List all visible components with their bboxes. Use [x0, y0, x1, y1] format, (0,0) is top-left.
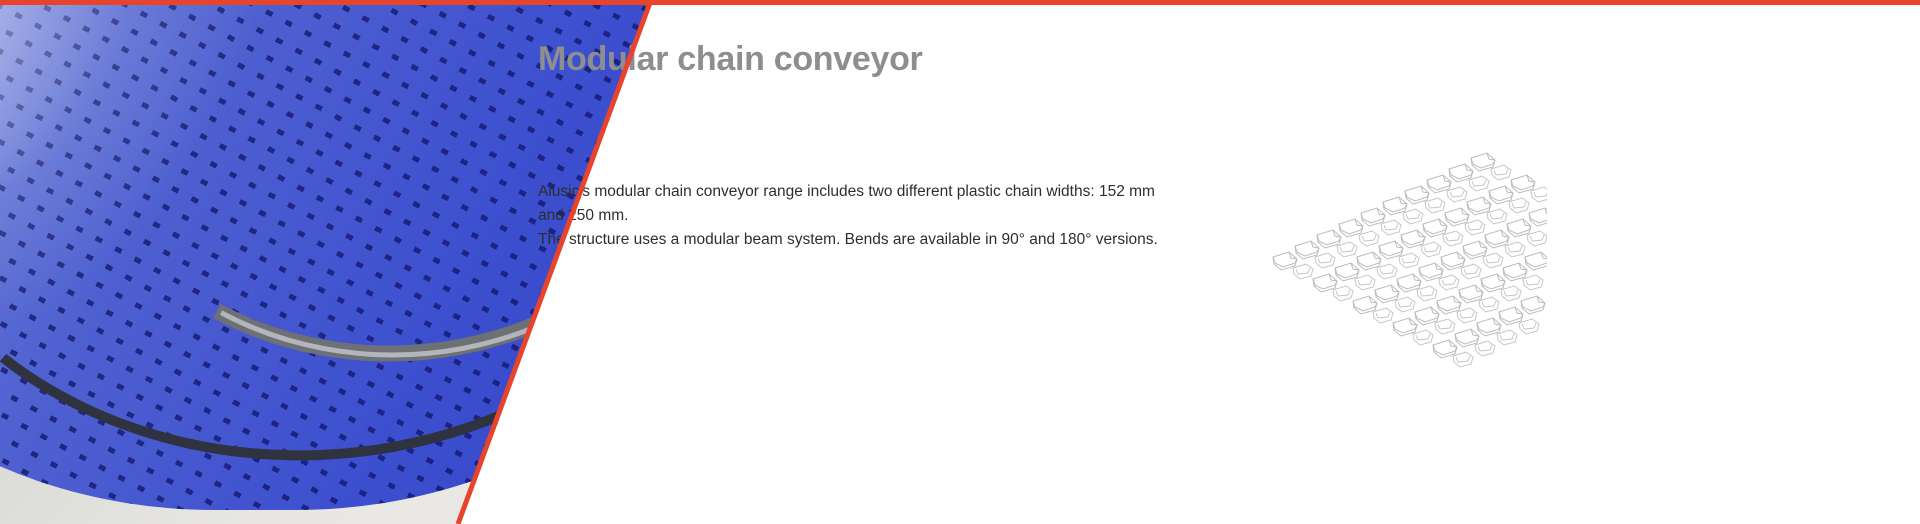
top-accent-rule — [0, 0, 1920, 5]
page-title: Modular chain conveyor — [538, 40, 922, 79]
chain-link-wireframe-svg — [1267, 145, 1547, 375]
description-block: Alusic's modular chain conveyor range in… — [538, 180, 1158, 252]
description-paragraph-2: The structure uses a modular beam system… — [538, 228, 1158, 252]
description-paragraph-1: Alusic's modular chain conveyor range in… — [538, 180, 1158, 228]
banner-content: Modular chain conveyor Alusic's modular … — [660, 0, 1920, 524]
chain-grid — [1273, 153, 1547, 367]
banner-section: Modular chain conveyor Alusic's modular … — [0, 0, 1920, 524]
chain-link-illustration — [1267, 145, 1547, 375]
